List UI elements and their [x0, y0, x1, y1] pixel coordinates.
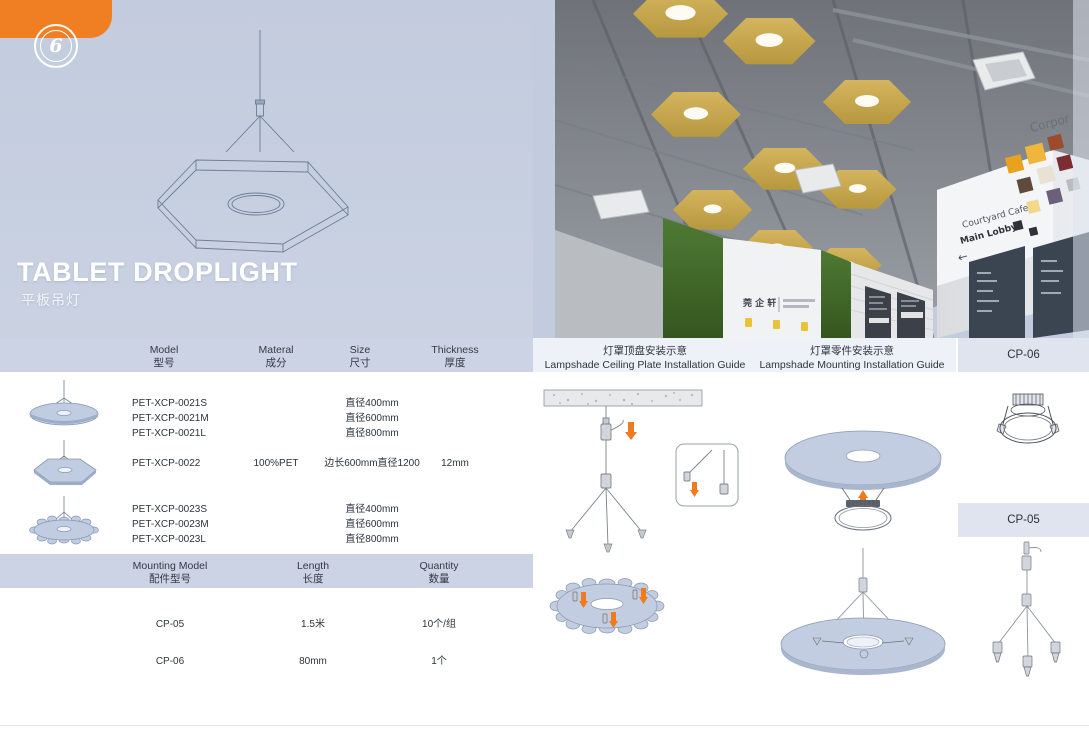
three-cable-suspension-kit-icon [982, 540, 1074, 680]
mounting-cell-quantity-2: 1个 [392, 654, 486, 669]
spec-column-size: Size 尺寸 [322, 344, 398, 371]
spec-column-material: Materal 成分 [232, 344, 320, 371]
spec-column-model: Model 型号 [118, 344, 210, 371]
page-subtitle: 平板吊灯 [21, 290, 81, 310]
assembled-disc-pendant-diagram [766, 548, 960, 680]
spec-cell-size-3: 直径400mm 直径600mm 直径800mm [322, 502, 422, 548]
page-bottom-rule [0, 725, 1089, 726]
mounting-table-body [0, 588, 533, 698]
spec-column-thickness: Thickness 厚度 [410, 344, 500, 371]
spec-cell-model-3: PET-XCP-0023S PET-XCP-0023M PET-XCP-0023… [132, 502, 209, 548]
part-badge-cp06-label: CP-06 [958, 338, 1089, 372]
mounting-cell-length-2: 80mm [268, 654, 358, 669]
page-title: TABLET DROPLIGHT [17, 258, 298, 286]
hero-section: 6 TABLET DROPLIGHT 平板吊灯 [0, 0, 1089, 338]
mounting-cell-quantity-1: 10个/组 [392, 617, 486, 632]
downlight-mounting-ring-icon [988, 388, 1068, 454]
mounting-cell-length-1: 1.5米 [268, 617, 358, 632]
mounting-column-quantity: Quantity 数量 [392, 560, 486, 587]
ceiling-plate-suspension-diagram [540, 386, 760, 554]
logo-glyph: 6 [40, 30, 72, 62]
guide-label-mounting: 灯罩零件安装示意 Lampshade Mounting Installation… [752, 344, 952, 372]
round-disc-pendant-icon [8, 380, 120, 436]
hexagon-ceiling-panel-interior-photo: 莞 企 轩 [533, 0, 1089, 338]
svg-text:莞 企 轩: 莞 企 轩 [742, 297, 776, 309]
spec-cell-material-2: 100%PET [232, 456, 320, 471]
mounting-cell-model-1: CP-05 [118, 617, 222, 632]
gear-panel-cable-points-diagram [545, 570, 695, 640]
company-circular-logo-icon[interactable]: 6 [34, 24, 78, 68]
hexagon-panel-pendant-icon [8, 440, 120, 496]
guide-label-ceiling-plate: 灯罩顶盘安装示意 Lampshade Ceiling Plate Install… [540, 344, 750, 372]
spec-cell-thickness-2: 12mm [412, 456, 498, 471]
disc-panel-with-mounting-ring-diagram [768, 424, 958, 536]
spec-cell-model-1: PET-XCP-0021S PET-XCP-0021M PET-XCP-0021… [132, 396, 209, 442]
gear-shape-pendant-icon [8, 496, 120, 552]
spec-cell-model-2: PET-XCP-0022 [132, 456, 200, 471]
part-badge-cp05-label: CP-05 [958, 503, 1089, 537]
spec-cell-size-2: 边长600mm直径1200 [318, 456, 426, 471]
mounting-column-model: Mounting Model 配件型号 [118, 560, 222, 587]
mounting-column-length: Length 长度 [268, 560, 358, 587]
mounting-cell-model-2: CP-06 [118, 654, 222, 669]
catalog-page: 6 TABLET DROPLIGHT 平板吊灯 [0, 0, 1089, 738]
spec-cell-size-1: 直径400mm 直径600mm 直径800mm [322, 396, 422, 442]
hexagon-pendant-lamp-line-drawing [118, 12, 438, 274]
